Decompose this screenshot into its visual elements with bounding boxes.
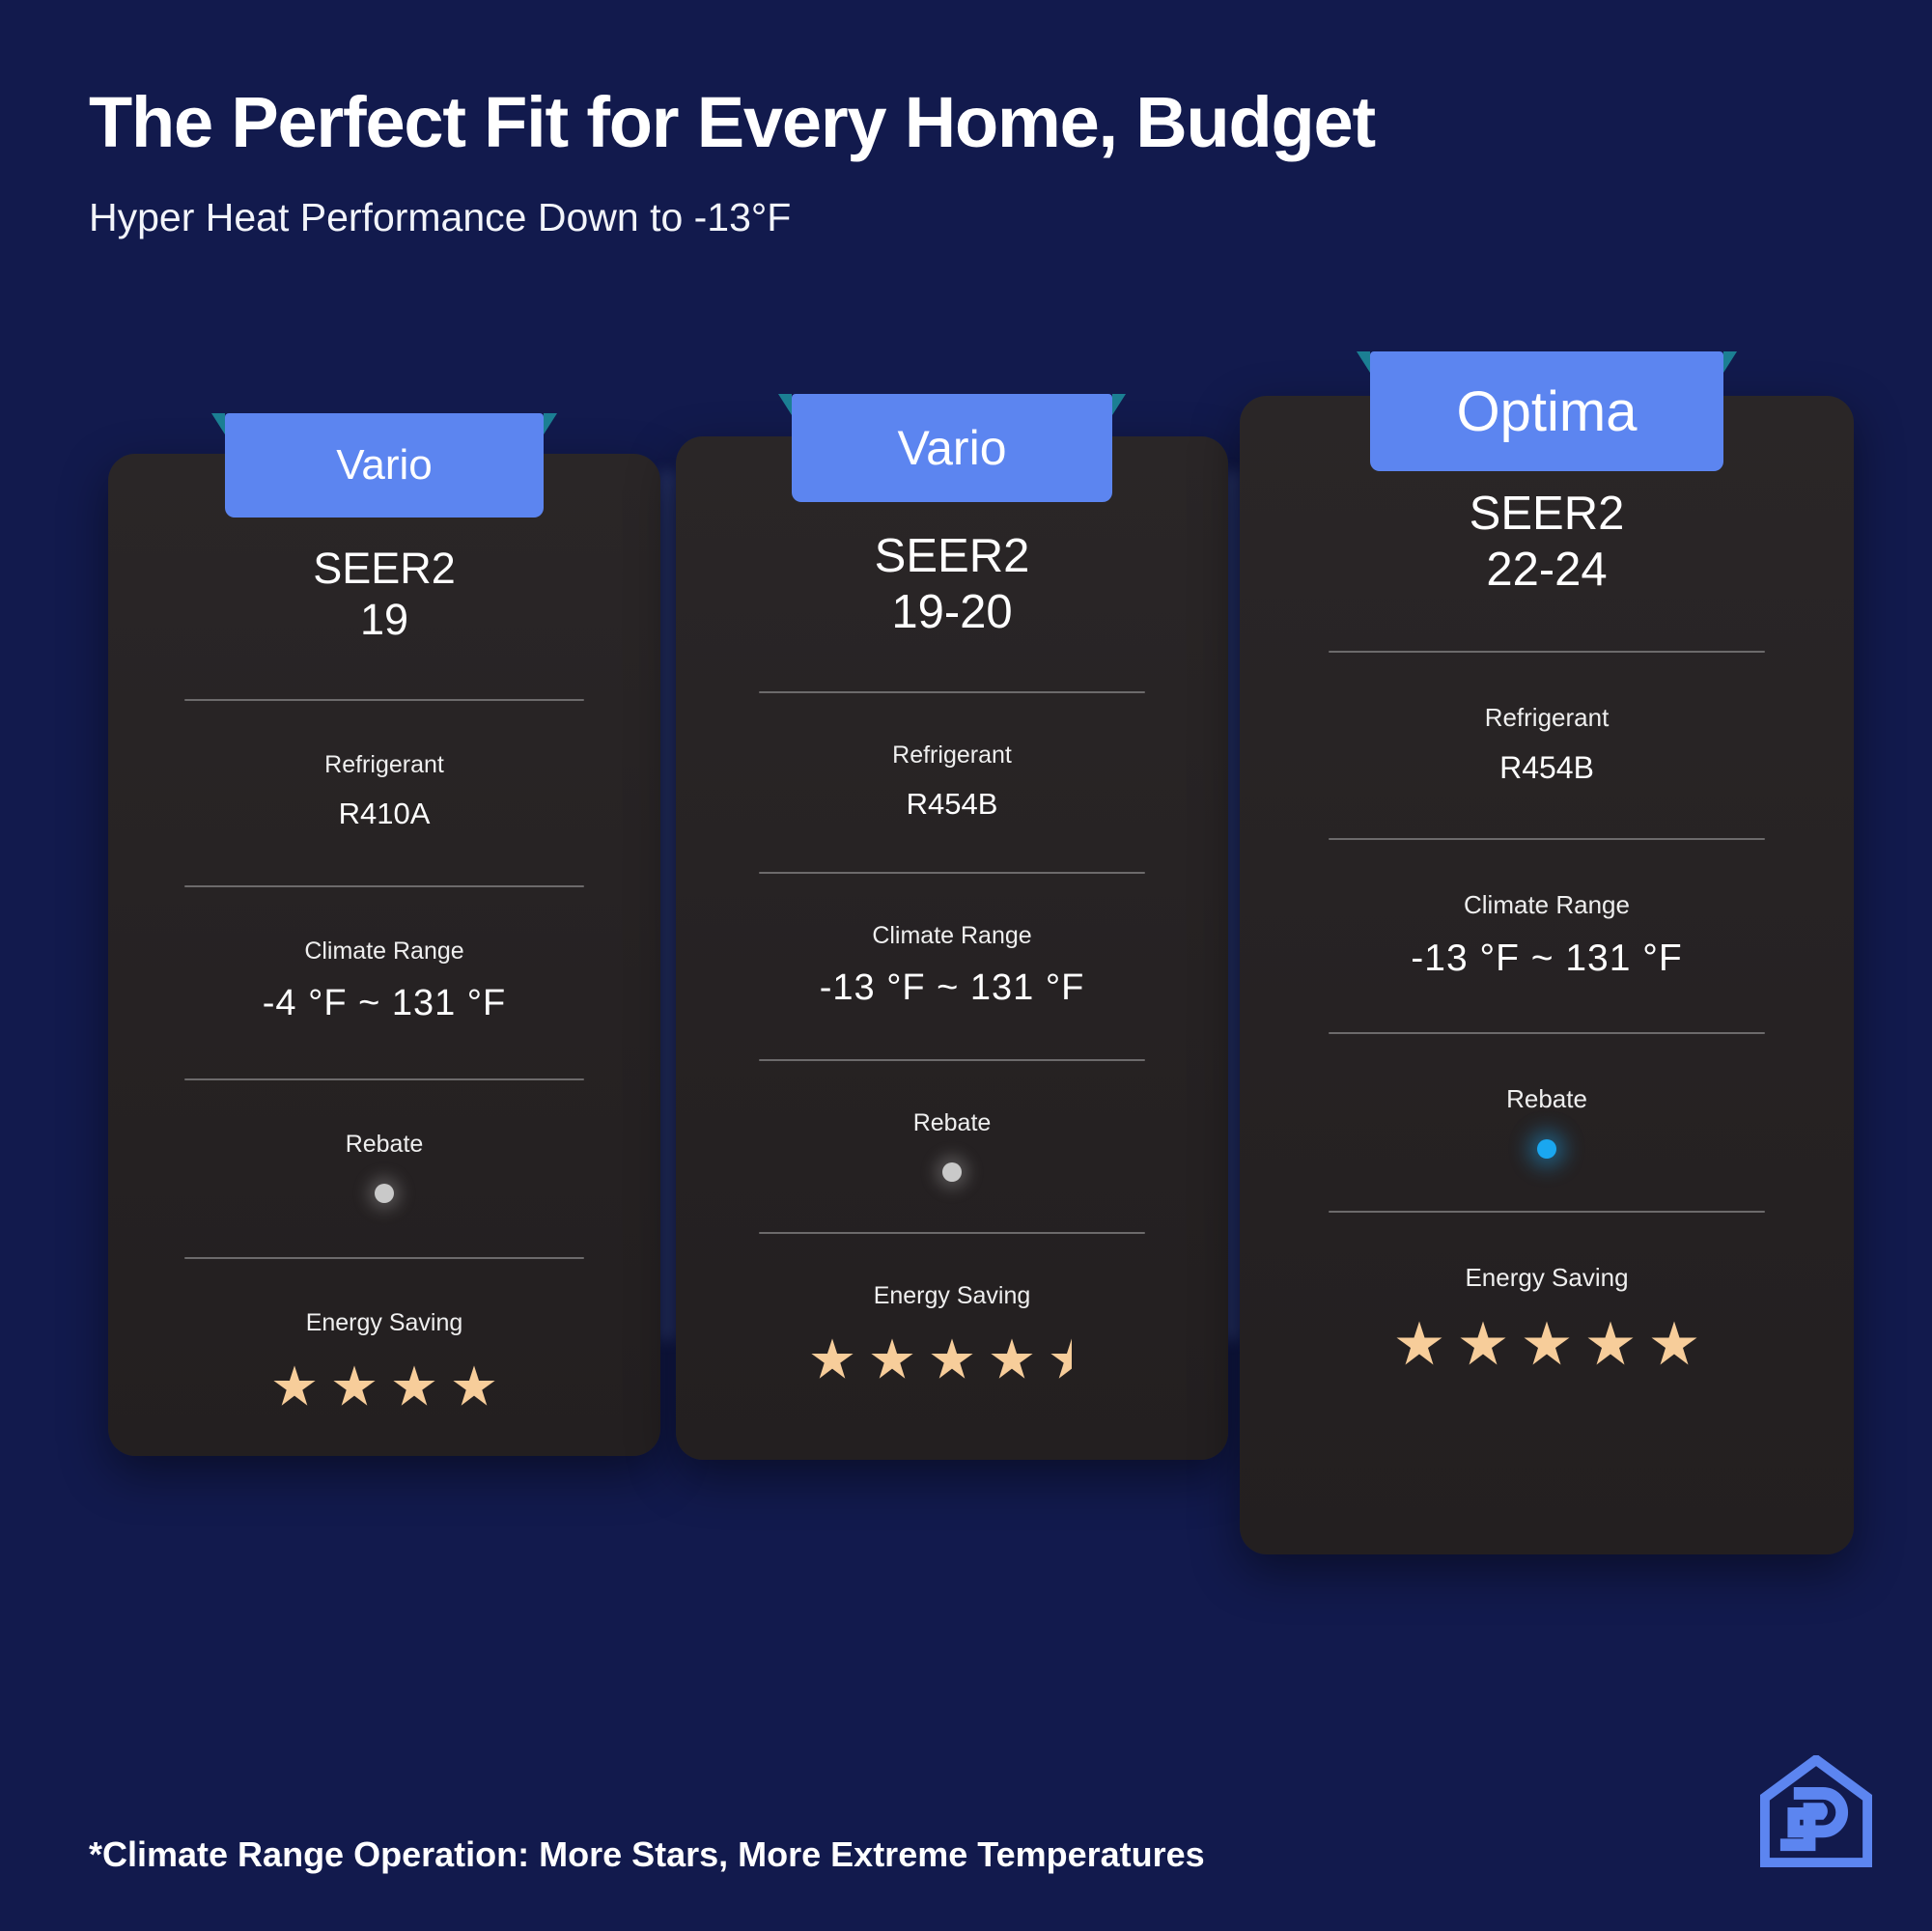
star-rating bbox=[676, 1337, 1228, 1382]
product-card-vario-19[interactable]: Vario SEER2 19 Refrigerant R410A Climate… bbox=[108, 454, 660, 1456]
spec-climate-range: Climate Range -13 °F ~ 131 °F bbox=[1240, 840, 1854, 980]
star-rating bbox=[108, 1364, 660, 1409]
card-body: SEER2 19 Refrigerant R410A Climate Range… bbox=[108, 543, 660, 1409]
star-icon bbox=[1395, 1320, 1443, 1368]
spec-value: -13 °F ~ 131 °F bbox=[676, 967, 1228, 1009]
spec-energy-saving: Energy Saving bbox=[108, 1259, 660, 1409]
ribbon-badge: Optima bbox=[1370, 351, 1723, 471]
spec-refrigerant: Refrigerant R454B bbox=[676, 693, 1228, 822]
star-icon bbox=[272, 1364, 317, 1409]
star-icon bbox=[332, 1364, 377, 1409]
spec-value: R454B bbox=[676, 787, 1228, 822]
footnote: *Climate Range Operation: More Stars, Mo… bbox=[89, 1834, 1205, 1875]
page-subtitle: Hyper Heat Performance Down to -13°F bbox=[89, 195, 1827, 240]
spec-label: Refrigerant bbox=[108, 751, 660, 779]
star-icon bbox=[1523, 1320, 1571, 1368]
rebate-dot-icon bbox=[1537, 1139, 1556, 1159]
spec-value: -13 °F ~ 131 °F bbox=[1240, 938, 1854, 980]
spec-label: Climate Range bbox=[1240, 890, 1854, 920]
seer-label: SEER2 bbox=[875, 529, 1030, 585]
spec-label: Climate Range bbox=[676, 922, 1228, 950]
star-icon bbox=[990, 1337, 1034, 1382]
star-rating bbox=[1240, 1320, 1854, 1368]
seer-label: SEER2 bbox=[313, 543, 456, 594]
header: The Perfect Fit for Every Home, Budget H… bbox=[89, 85, 1827, 240]
star-icon bbox=[810, 1337, 854, 1382]
ribbon-label: Vario bbox=[897, 420, 1006, 476]
rebate-indicator bbox=[108, 1184, 660, 1203]
spec-rebate: Rebate bbox=[676, 1061, 1228, 1182]
star-icon bbox=[1459, 1320, 1507, 1368]
spec-label: Rebate bbox=[676, 1109, 1228, 1137]
spec-energy-saving: Energy Saving bbox=[676, 1234, 1228, 1382]
page-title: The Perfect Fit for Every Home, Budget bbox=[89, 85, 1827, 160]
seer-value: 19 bbox=[360, 594, 408, 645]
spec-label: Refrigerant bbox=[1240, 703, 1854, 733]
spec-value: -4 °F ~ 131 °F bbox=[108, 983, 660, 1024]
infographic-page: The Perfect Fit for Every Home, Budget H… bbox=[0, 0, 1932, 1931]
spec-label: Refrigerant bbox=[676, 742, 1228, 770]
card-body: SEER2 19-20 Refrigerant R454B Climate Ra… bbox=[676, 529, 1228, 1382]
rebate-indicator bbox=[1240, 1139, 1854, 1159]
product-card-vario-19-20[interactable]: Vario SEER2 19-20 Refrigerant R454B Clim… bbox=[676, 436, 1228, 1460]
seer-label: SEER2 bbox=[1470, 487, 1625, 543]
spec-label: Rebate bbox=[108, 1131, 660, 1159]
ribbon-label: Vario bbox=[336, 441, 432, 490]
spec-climate-range: Climate Range -4 °F ~ 131 °F bbox=[108, 887, 660, 1024]
product-card-optima[interactable]: Optima SEER2 22-24 Refrigerant R454B Cli… bbox=[1240, 396, 1854, 1554]
star-icon bbox=[392, 1364, 436, 1409]
seer-value: 22-24 bbox=[1486, 543, 1607, 599]
card-ribbon-wrap: Optima bbox=[1370, 351, 1723, 471]
spec-energy-saving: Energy Saving bbox=[1240, 1213, 1854, 1368]
seer-value: 19-20 bbox=[891, 585, 1012, 641]
spec-label: Energy Saving bbox=[108, 1309, 660, 1337]
spec-label: Rebate bbox=[1240, 1084, 1854, 1114]
card-body: SEER2 22-24 Refrigerant R454B Climate Ra… bbox=[1240, 487, 1854, 1368]
star-half-icon bbox=[1050, 1337, 1094, 1382]
card-ribbon-wrap: Vario bbox=[792, 394, 1112, 502]
spec-value: R410A bbox=[108, 797, 660, 831]
rebate-dot-icon bbox=[375, 1184, 394, 1203]
star-icon bbox=[930, 1337, 974, 1382]
star-icon bbox=[1586, 1320, 1635, 1368]
rebate-dot-icon bbox=[942, 1162, 962, 1182]
ribbon-badge: Vario bbox=[792, 394, 1112, 502]
spec-label: Energy Saving bbox=[1240, 1263, 1854, 1293]
product-cards: Vario SEER2 19 Refrigerant R410A Climate… bbox=[0, 355, 1932, 1707]
spec-rebate: Rebate bbox=[1240, 1034, 1854, 1159]
spec-rebate: Rebate bbox=[108, 1080, 660, 1203]
star-icon bbox=[452, 1364, 496, 1409]
spec-value: R454B bbox=[1240, 750, 1854, 786]
card-ribbon-wrap: Vario bbox=[225, 413, 544, 518]
ribbon-badge: Vario bbox=[225, 413, 544, 518]
spec-label: Energy Saving bbox=[676, 1282, 1228, 1310]
ribbon-label: Optima bbox=[1457, 379, 1638, 444]
star-icon bbox=[1650, 1320, 1698, 1368]
star-icon bbox=[870, 1337, 914, 1382]
spec-refrigerant: Refrigerant R454B bbox=[1240, 653, 1854, 786]
rebate-indicator bbox=[676, 1162, 1228, 1182]
spec-label: Climate Range bbox=[108, 938, 660, 965]
house-d-logo-icon bbox=[1760, 1755, 1872, 1867]
spec-climate-range: Climate Range -13 °F ~ 131 °F bbox=[676, 874, 1228, 1009]
spec-refrigerant: Refrigerant R410A bbox=[108, 701, 660, 831]
